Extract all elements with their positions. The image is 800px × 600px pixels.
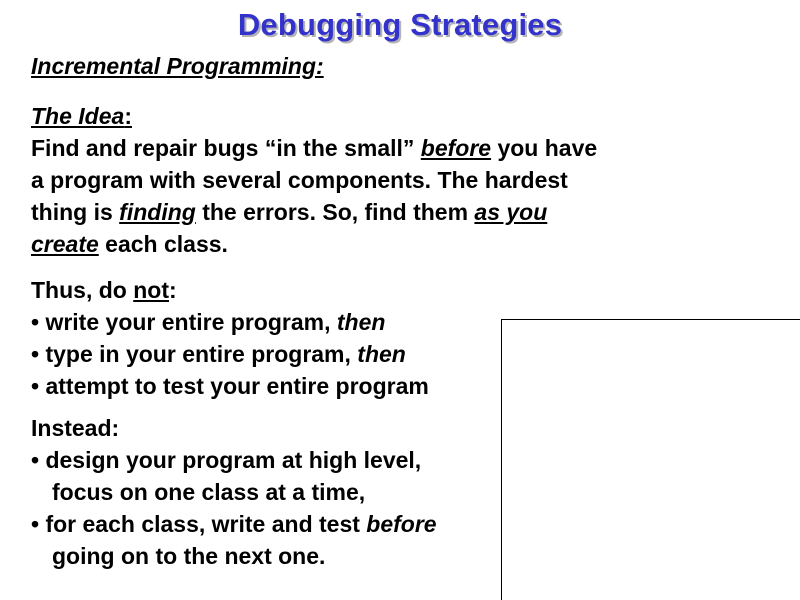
idea-line-1: Find and repair bugs “in the small” befo… — [31, 132, 731, 164]
idea-line-4: create each class. — [31, 228, 731, 260]
run: attempt to test your entire program — [45, 373, 428, 399]
run-emphasis-before: before — [421, 135, 491, 161]
idea-line-3: thing is finding the errors. So, find th… — [31, 196, 731, 228]
idea-label-line: The Idea: — [31, 100, 731, 132]
run-emphasis-before: before — [366, 511, 436, 537]
run: the errors. So, find them — [196, 199, 475, 225]
run: for each class, write and test — [45, 511, 366, 537]
bullet-glyph-icon: • — [31, 447, 39, 473]
run: each class. — [99, 231, 228, 257]
bullet-glyph-icon: • — [31, 341, 39, 367]
run-emphasis-not: not — [133, 277, 169, 303]
run: a program with several components. The h… — [31, 167, 568, 193]
run: going on to the next one. — [52, 543, 325, 569]
idea-line-2: a program with several components. The h… — [31, 164, 731, 196]
run: write your entire program, — [45, 309, 336, 335]
run: Find and repair bugs “in the small” — [31, 135, 421, 161]
run-emphasis-as-you: as you — [474, 199, 547, 225]
idea-label-wrapper: The Idea: — [31, 103, 132, 129]
idea-label-colon: : — [124, 103, 132, 129]
run-emphasis-then: then — [357, 341, 406, 367]
bullet-glyph-icon: • — [31, 373, 39, 399]
run-emphasis-finding: finding — [119, 199, 196, 225]
run-emphasis-create: create — [31, 231, 99, 257]
bullet-glyph-icon: • — [31, 309, 39, 335]
run: design your program at high level, — [45, 447, 421, 473]
idea-label: The Idea — [31, 103, 124, 129]
run: : — [169, 277, 177, 303]
run: Thus, do — [31, 277, 133, 303]
section-heading-text: Incremental Programming: — [31, 53, 324, 79]
run: focus on one class at a time, — [52, 479, 365, 505]
spacer — [31, 260, 731, 274]
section-heading: Incremental Programming: — [31, 50, 731, 82]
run: you have — [491, 135, 597, 161]
slide-title: Debugging Strategies — [0, 6, 800, 44]
run-emphasis-then: then — [337, 309, 386, 335]
bullet-glyph-icon: • — [31, 511, 39, 537]
run: type in your entire program, — [45, 341, 357, 367]
spacer — [31, 82, 731, 100]
slide-canvas: Debugging Strategies Incremental Program… — [0, 0, 800, 600]
run: Instead: — [31, 415, 119, 441]
thus-lead-line: Thus, do not: — [31, 274, 731, 306]
empty-rectangle-shape[interactable] — [501, 319, 800, 600]
run: thing is — [31, 199, 119, 225]
